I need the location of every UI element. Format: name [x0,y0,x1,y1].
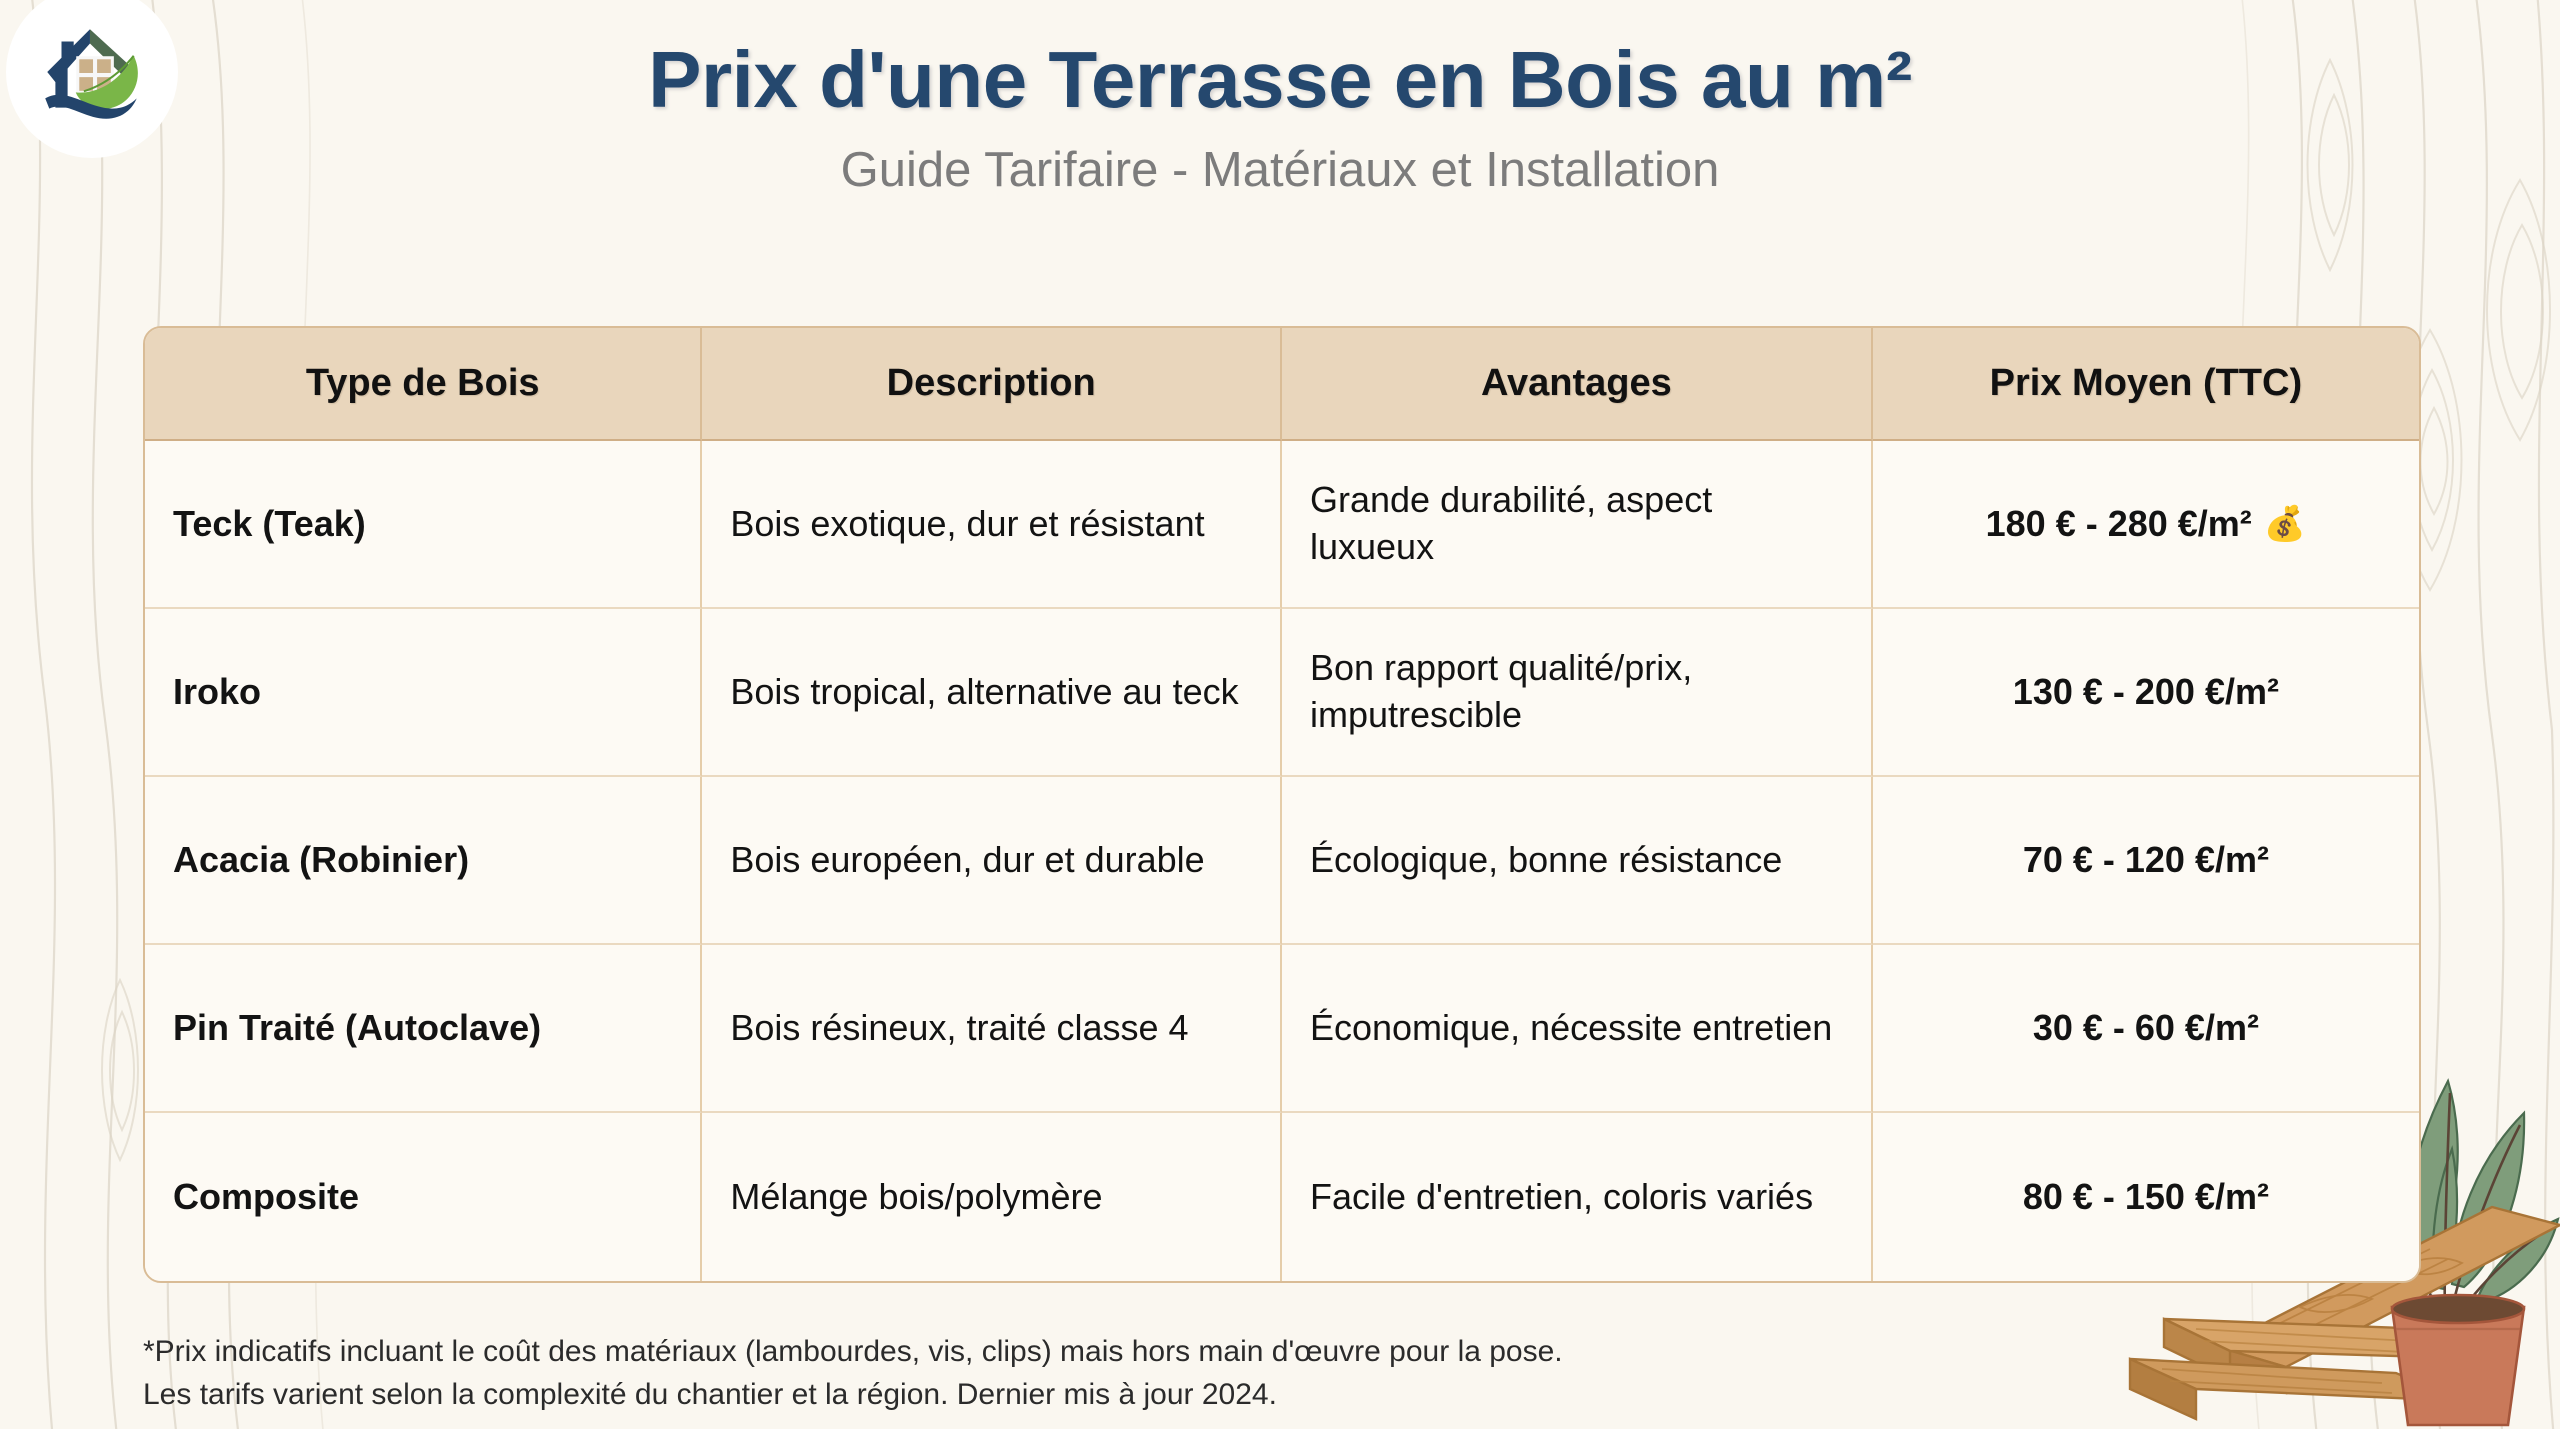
table-row: Composite Mélange bois/polymère Facile d… [145,1113,2419,1281]
footnote: *Prix indicatifs incluant le coût des ma… [143,1331,2143,1416]
table-row: Teck (Teak) Bois exotique, dur et résist… [145,441,2419,609]
cell-wood-type: Composite [145,1113,702,1281]
table-row: Acacia (Robinier) Bois européen, dur et … [145,777,2419,945]
cell-price: 70 € - 120 €/m² [1873,777,2419,945]
price-value: 130 € - 200 €/m² [2013,669,2279,716]
house-leaf-logo-icon [31,11,153,133]
column-header-prix: Prix Moyen (TTC) [1873,328,2419,441]
footnote-line-2: Les tarifs varient selon la complexité d… [143,1374,2143,1417]
cell-description: Mélange bois/polymère [702,1113,1282,1281]
price-table-container: Type de Bois Description Avantages Prix … [143,326,2421,1283]
table-row: Pin Traité (Autoclave) Bois résineux, tr… [145,945,2419,1113]
price-value: 30 € - 60 €/m² [2033,1005,2259,1052]
cell-price: 30 € - 60 €/m² [1873,945,2419,1113]
price-table: Type de Bois Description Avantages Prix … [143,326,2421,1283]
cell-description: Bois européen, dur et durable [702,777,1282,945]
cell-wood-type: Pin Traité (Autoclave) [145,945,702,1113]
table-header: Type de Bois Description Avantages Prix … [145,328,2419,441]
cell-description: Bois résineux, traité classe 4 [702,945,1282,1113]
table-body: Teck (Teak) Bois exotique, dur et résist… [145,441,2419,1281]
table-row: Iroko Bois tropical, alternative au teck… [145,609,2419,777]
table-header-row: Type de Bois Description Avantages Prix … [145,328,2419,441]
cell-price: 180 € - 280 €/m² 💰 [1873,441,2419,609]
column-header-avantages: Avantages [1282,328,1873,441]
cell-price: 80 € - 150 €/m² [1873,1113,2419,1281]
cell-description: Bois exotique, dur et résistant [702,441,1282,609]
column-header-description: Description [702,328,1282,441]
flower-pot-icon [2392,1295,2524,1425]
cell-avantages: Grande durabilité, aspect luxueux [1282,441,1873,609]
cell-avantages: Économique, nécessite entretien [1282,945,1873,1113]
price-value: 80 € - 150 €/m² [2023,1174,2269,1221]
price-value: 180 € - 280 €/m² [1986,501,2252,548]
money-bag-icon: 💰 [2264,507,2306,541]
cell-avantages: Bon rapport qualité/prix, imputrescible [1282,609,1873,777]
header-block: Prix d'une Terrasse en Bois au m² Guide … [0,38,2560,198]
cell-avantages: Écologique, bonne résistance [1282,777,1873,945]
cell-price: 130 € - 200 €/m² [1873,609,2419,777]
column-header-type: Type de Bois [145,328,702,441]
cell-wood-type: Iroko [145,609,702,777]
page-title: Prix d'une Terrasse en Bois au m² [0,38,2560,122]
cell-wood-type: Teck (Teak) [145,441,702,609]
cell-wood-type: Acacia (Robinier) [145,777,702,945]
footnote-line-1: *Prix indicatifs incluant le coût des ma… [143,1331,2143,1374]
cell-avantages: Facile d'entretien, coloris variés [1282,1113,1873,1281]
price-value: 70 € - 120 €/m² [2023,837,2269,884]
page-subtitle: Guide Tarifaire - Matériaux et Installat… [0,142,2560,198]
cell-description: Bois tropical, alternative au teck [702,609,1282,777]
